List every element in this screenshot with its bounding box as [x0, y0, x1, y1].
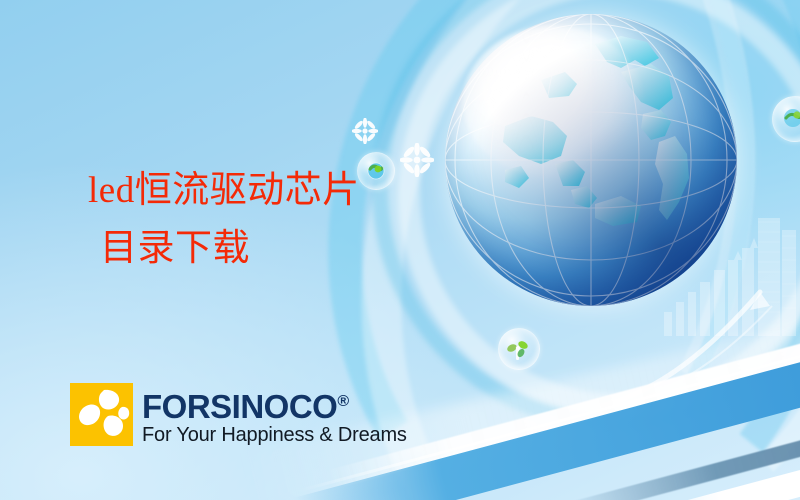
bubble-small-globe: [357, 152, 395, 190]
brand-tagline: For Your Happiness & Dreams: [142, 424, 407, 447]
flower-burst-upper-icon: [352, 118, 378, 144]
brand-name: FORSINOCO®: [142, 385, 407, 424]
slide-canvas: led恒流驱动芯片 目录下载 FORSINOCO® For Your Happi…: [0, 0, 800, 500]
earth-globe-icon: [445, 14, 737, 306]
green-energy-icon: [499, 329, 539, 369]
bubble-green-energy: [498, 328, 540, 370]
logo-wordmark: FORSINOCO® For Your Happiness & Dreams: [142, 383, 407, 447]
bubble-edge-content-icon: [773, 97, 800, 141]
four-petal-flower-icon: [70, 383, 133, 446]
page-title-line-1: led恒流驱动芯片: [88, 162, 360, 220]
page-title: led恒流驱动芯片 目录下载: [88, 162, 360, 278]
flower-burst-lower-icon: [400, 143, 434, 177]
brand-name-text: FORSINOCO: [142, 388, 337, 425]
registered-trademark-icon: ®: [337, 393, 349, 410]
mini-globe-icon: [358, 153, 394, 189]
company-logo: FORSINOCO® For Your Happiness & Dreams: [70, 383, 407, 447]
globe-shading: [445, 14, 737, 306]
petal-mark-shapes: [70, 383, 133, 446]
bubble-edge: [772, 96, 800, 142]
page-title-line-2: 目录下载: [100, 220, 360, 278]
